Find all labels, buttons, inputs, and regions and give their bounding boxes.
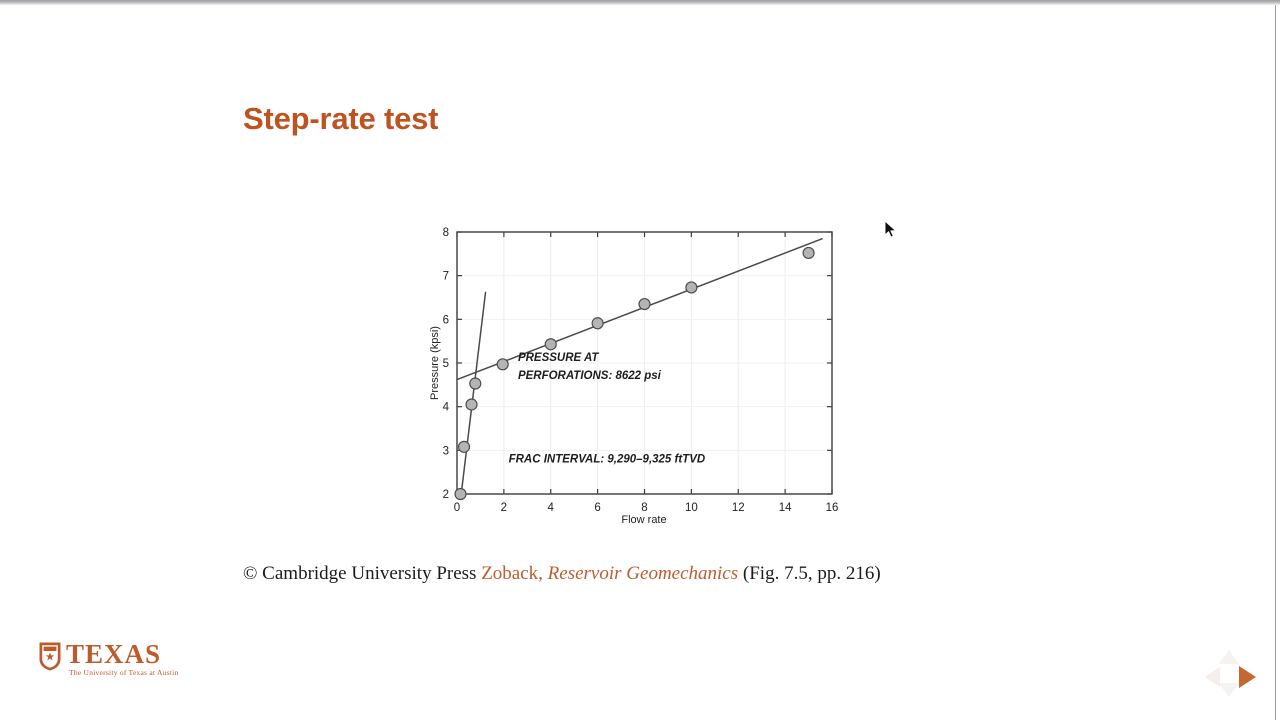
y-tick-label: 3 xyxy=(443,445,449,457)
caption-reference-title[interactable]: Reservoir Geomechanics xyxy=(548,563,738,584)
step-rate-test-chart: 0246810121416 2345678 Flow rate Pressure… xyxy=(425,220,845,530)
x-tick-label: 4 xyxy=(548,502,555,514)
ut-austin-logo: TEXAS The University of Texas at Austin xyxy=(38,639,218,679)
data-point xyxy=(803,247,814,258)
slide-navigation-controls[interactable] xyxy=(1205,650,1267,705)
y-tick-label: 7 xyxy=(443,271,449,283)
y-tick-label: 4 xyxy=(443,402,450,414)
data-point xyxy=(639,299,650,310)
data-point xyxy=(455,489,466,500)
chart-svg: 0246810121416 2345678 Flow rate Pressure… xyxy=(425,220,845,530)
caption-prefix: © Cambridge University Press xyxy=(243,563,481,584)
page-title: Step-rate test xyxy=(243,101,438,137)
x-tick-label: 16 xyxy=(826,502,839,514)
data-point xyxy=(686,282,697,293)
data-point xyxy=(592,318,603,329)
nav-next-icon[interactable] xyxy=(1239,666,1256,688)
data-point xyxy=(459,441,470,452)
slide-canvas: Step-rate test 0246810121416 2345678 Flo… xyxy=(0,5,1275,720)
nav-previous-icon[interactable] xyxy=(1205,667,1220,687)
y-tick-label: 6 xyxy=(443,314,449,326)
annotation-pressure-line2: PERFORATIONS: 8622 psi xyxy=(518,370,662,382)
data-point xyxy=(545,339,556,350)
data-point xyxy=(470,378,481,389)
ut-wordmark: TEXAS xyxy=(66,639,161,669)
x-tick-label: 0 xyxy=(454,502,460,514)
ut-tagline: The University of Texas at Austin xyxy=(69,668,178,677)
mouse-pointer-icon xyxy=(884,220,898,240)
x-tick-label: 2 xyxy=(501,502,507,514)
annotation-frac-interval: FRAC INTERVAL: 9,290–9,325 ftTVD xyxy=(509,454,706,466)
figure-caption: © Cambridge University Press Zoback, Res… xyxy=(243,563,881,585)
nav-up-icon[interactable] xyxy=(1219,650,1239,664)
x-tick-label: 8 xyxy=(641,502,647,514)
caption-reference-author[interactable]: Zoback, xyxy=(481,563,547,584)
caption-suffix: (Fig. 7.5, pp. 216) xyxy=(738,563,881,584)
x-tick-label: 10 xyxy=(685,502,698,514)
annotation-pressure-line1: PRESSURE AT xyxy=(518,352,599,364)
data-point xyxy=(497,359,508,370)
x-tick-label: 6 xyxy=(594,502,600,514)
y-tick-label: 2 xyxy=(443,489,449,501)
x-tick-label: 14 xyxy=(779,502,792,514)
ut-shield-icon xyxy=(38,641,62,671)
x-tick-label: 12 xyxy=(732,502,745,514)
y-axis-label: Pressure (kpsi) xyxy=(429,326,441,400)
window-right-border xyxy=(1275,5,1276,720)
data-point xyxy=(466,399,477,410)
y-tick-label: 5 xyxy=(443,358,449,370)
y-tick-label: 8 xyxy=(443,227,449,239)
x-axis-label: Flow rate xyxy=(621,514,666,526)
x-axis-tick-labels: 0246810121416 xyxy=(454,502,839,514)
nav-down-icon[interactable] xyxy=(1219,683,1239,697)
y-axis-tick-labels: 2345678 xyxy=(443,227,450,501)
